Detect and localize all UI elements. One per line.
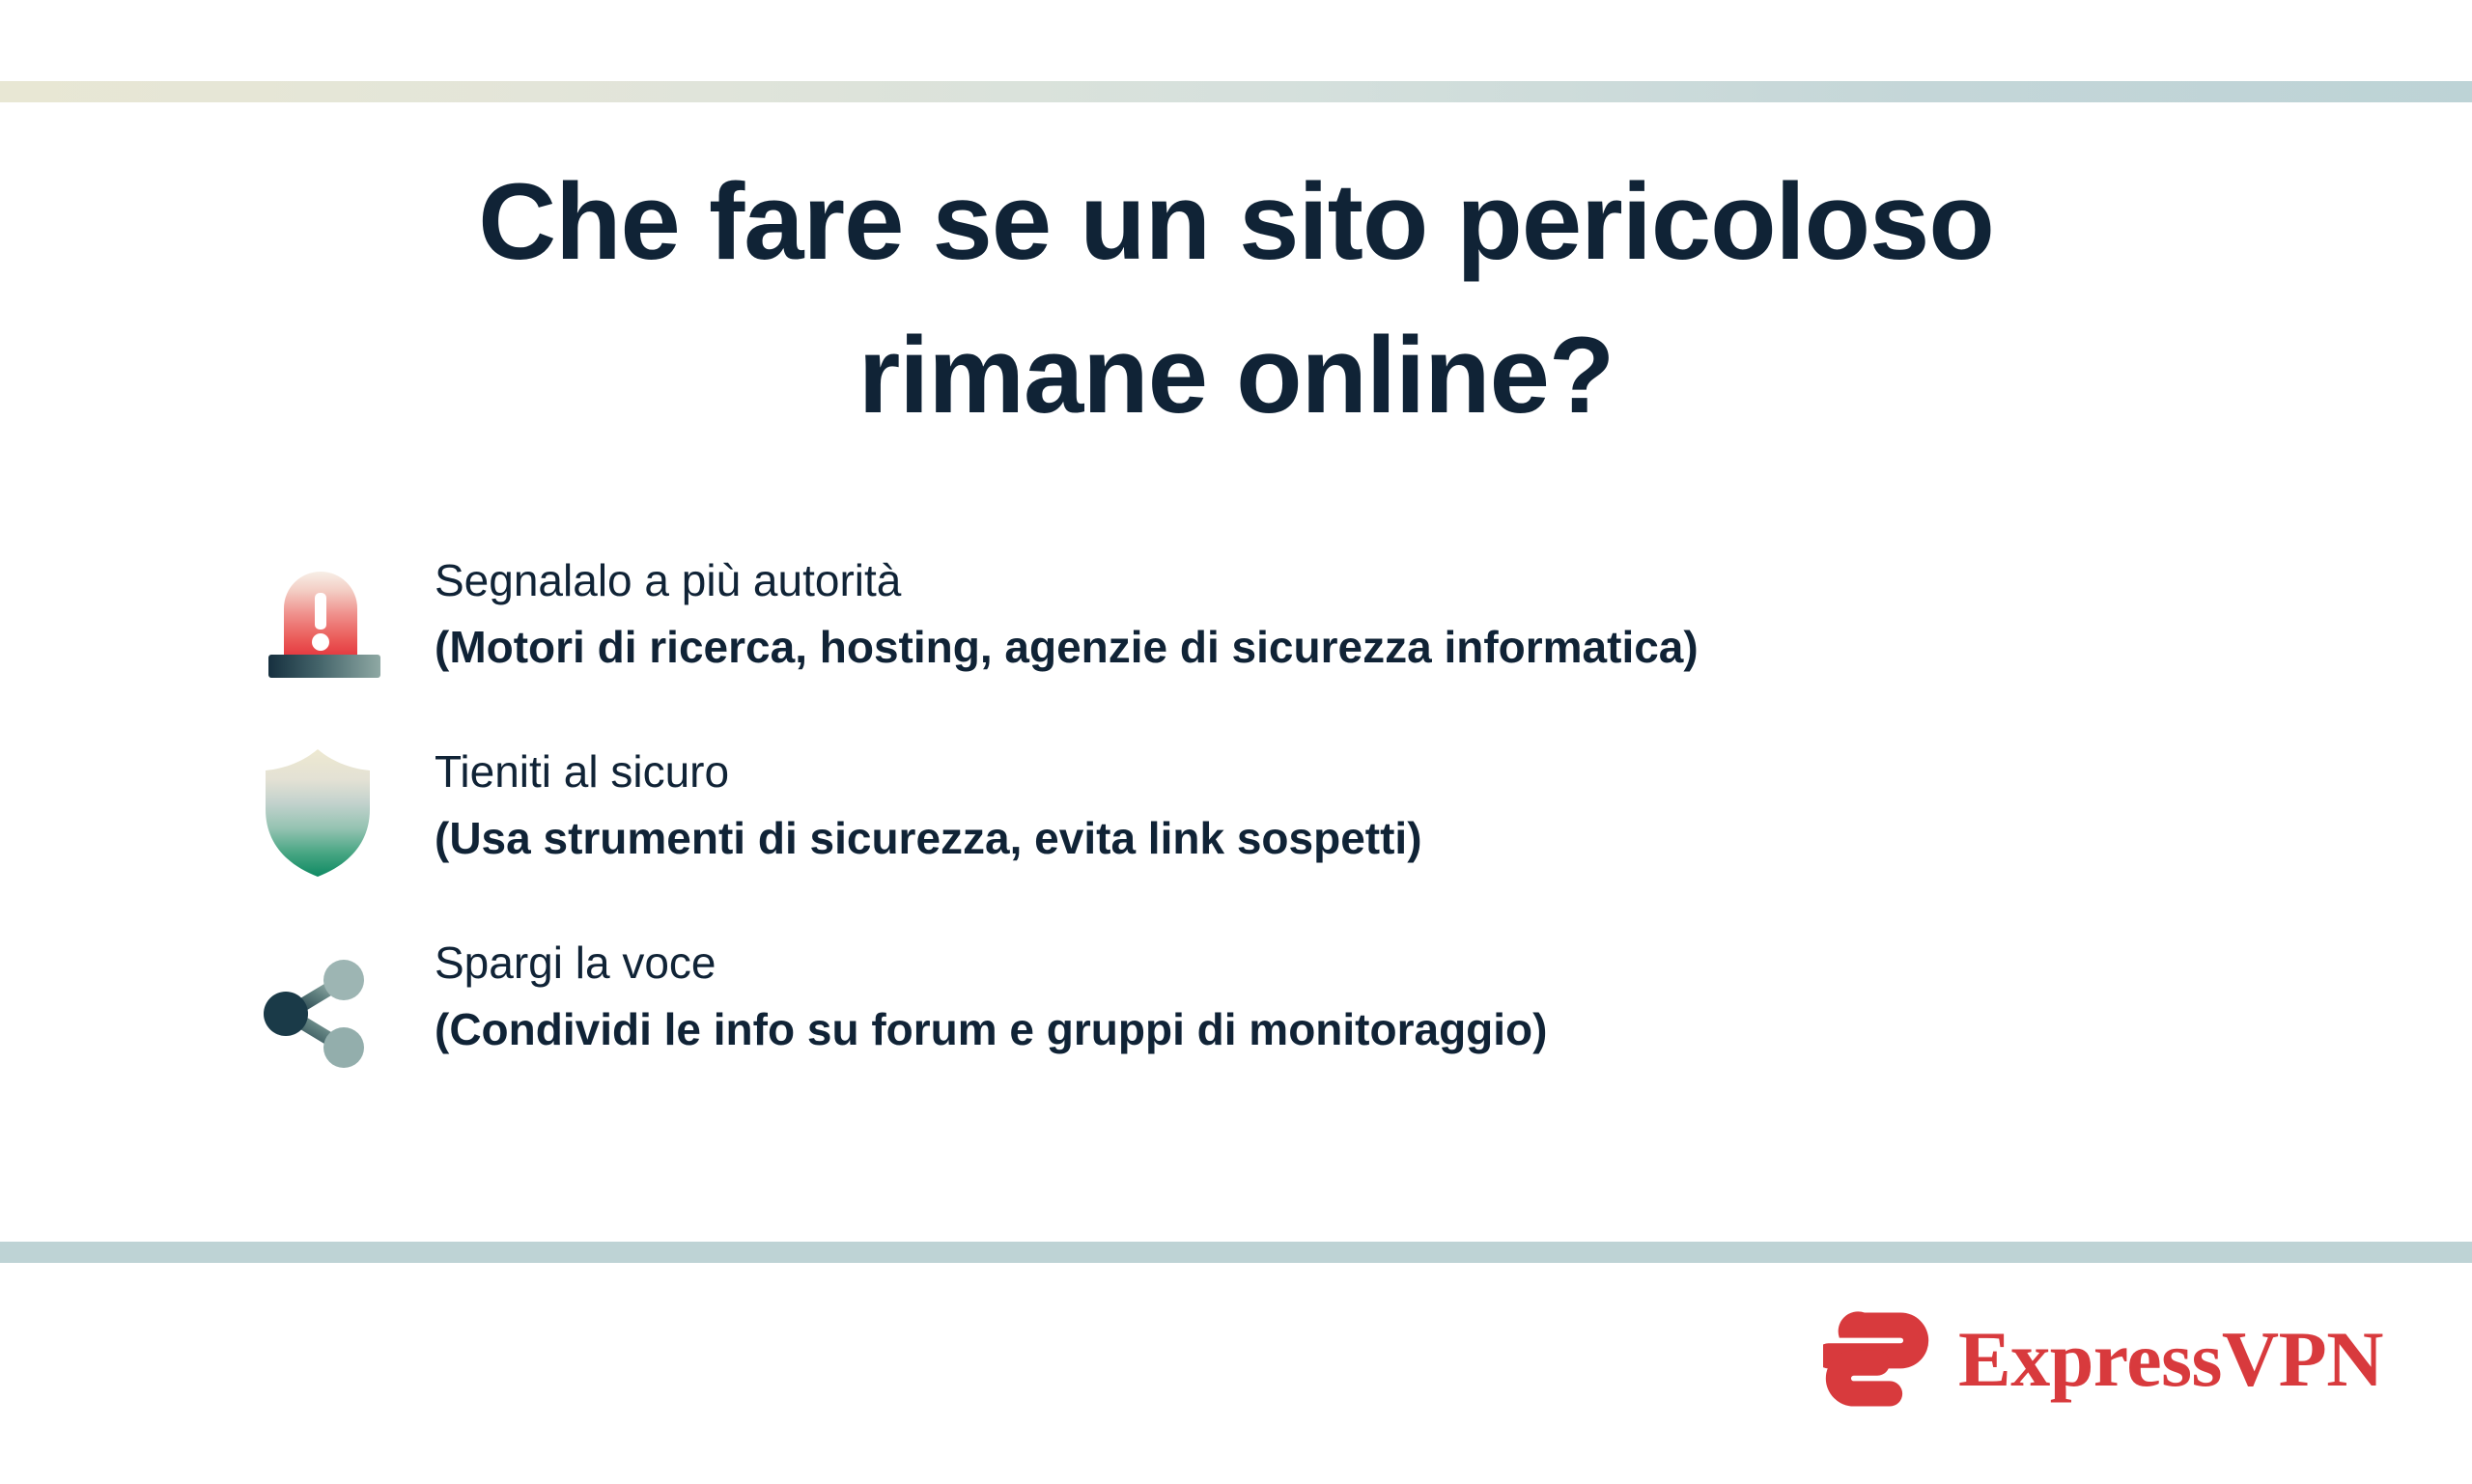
shield-icon <box>261 740 435 884</box>
list-item-text: Tieniti al sicuro (Usa strumenti di sicu… <box>435 740 2289 867</box>
top-divider <box>0 81 2472 102</box>
list-item-detail: (Condividi le info su forum e gruppi di … <box>435 1001 2289 1058</box>
siren-alert-icon <box>261 548 435 693</box>
siren-alert-icon-svg <box>261 558 406 693</box>
advice-list: Segnalalo a più autorità (Motori di rice… <box>261 548 2289 1076</box>
expressvpn-logo: ExpressVPN <box>1823 1305 2383 1414</box>
list-item-text: Spargi la voce (Condividi le info su for… <box>435 931 2289 1058</box>
expressvpn-wordmark: ExpressVPN <box>1958 1320 2383 1399</box>
page-title-line-1: Che fare se un sito pericoloso <box>0 145 2472 298</box>
bottom-divider <box>0 1242 2472 1263</box>
page-title-line-2: rimane online? <box>0 298 2472 452</box>
slide-canvas: Che fare se un sito pericoloso rimane on… <box>0 0 2472 1484</box>
list-item: Segnalalo a più autorità (Motori di rice… <box>261 548 2289 693</box>
list-item: Spargi la voce (Condividi le info su for… <box>261 931 2289 1076</box>
share-icon-svg <box>261 956 377 1072</box>
list-item-heading: Spargi la voce <box>435 935 2289 992</box>
list-item-heading: Tieniti al sicuro <box>435 743 2289 800</box>
page-title: Che fare se un sito pericoloso rimane on… <box>0 145 2472 452</box>
shield-icon-svg <box>261 743 375 879</box>
expressvpn-e-mark-icon <box>1823 1305 1931 1414</box>
list-item-heading: Segnalalo a più autorità <box>435 552 2289 609</box>
list-item-detail: (Usa strumenti di sicurezza, evita link … <box>435 810 2289 867</box>
list-item-text: Segnalalo a più autorità (Motori di rice… <box>435 548 2289 676</box>
share-icon <box>261 931 435 1076</box>
list-item-detail: (Motori di ricerca, hosting, agenzie di … <box>435 619 2289 676</box>
list-item: Tieniti al sicuro (Usa strumenti di sicu… <box>261 740 2289 884</box>
